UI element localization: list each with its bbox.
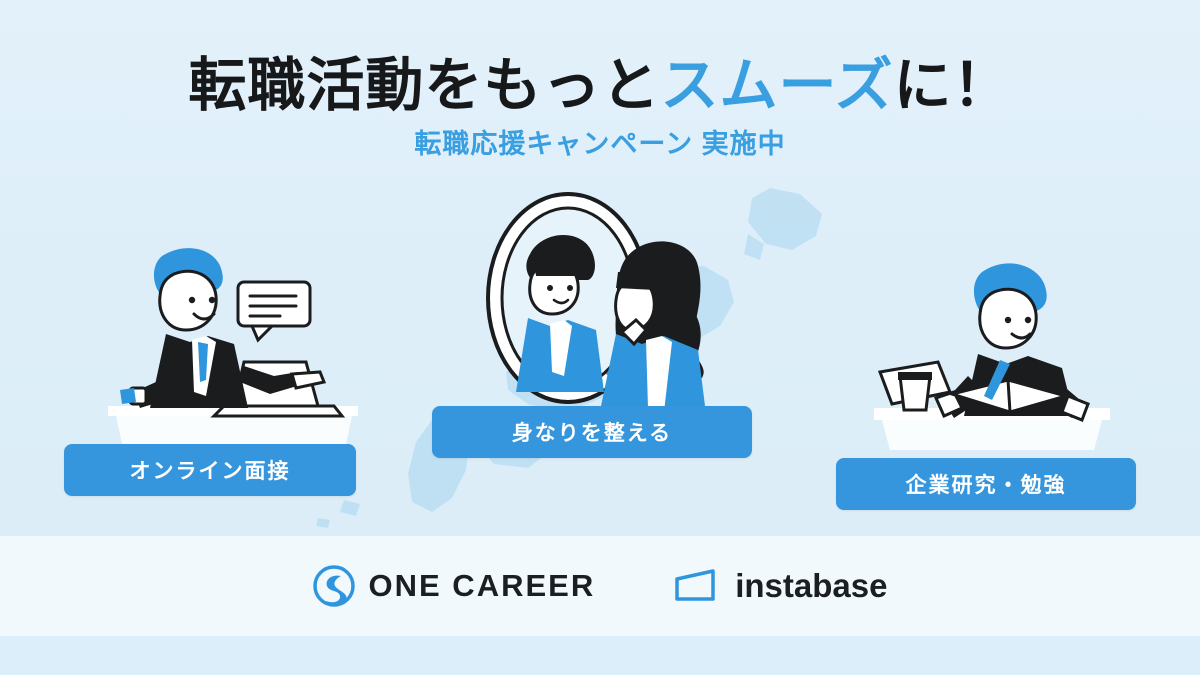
instabase-mark: [673, 565, 721, 607]
online-interview-illustration: [96, 230, 396, 460]
mirror-grooming-illustration: [450, 188, 750, 438]
background-bottom-band: [0, 636, 1200, 675]
logo-instabase-text: instabase: [735, 567, 887, 605]
promo-banner: 転職活動をもっとスムーズに！ 転職応援キャンペーン 実施中: [0, 0, 1200, 675]
logo-one-career: ONE CAREER: [313, 565, 596, 607]
headline-part2: に！: [894, 53, 1012, 118]
scene-label-study: 企業研究・勉強: [836, 458, 1136, 510]
page-subtitle: 転職応援キャンペーン 実施中: [0, 122, 1200, 161]
logo-instabase: instabase: [673, 565, 887, 607]
desk-study-illustration: [856, 248, 1136, 468]
scene-label-grooming: 身なりを整える: [432, 406, 752, 458]
page-title: 転職活動をもっとスムーズに！: [0, 38, 1200, 122]
headline-part1: 転職活動をもっと: [188, 53, 660, 118]
one-career-mark: [313, 565, 355, 607]
scene-label-online-interview: オンライン面接: [64, 444, 356, 496]
footer-logos: ONE CAREER instabase: [0, 536, 1200, 636]
headline-accent: スムーズ: [660, 53, 893, 118]
logo-one-career-text: ONE CAREER: [369, 568, 596, 604]
